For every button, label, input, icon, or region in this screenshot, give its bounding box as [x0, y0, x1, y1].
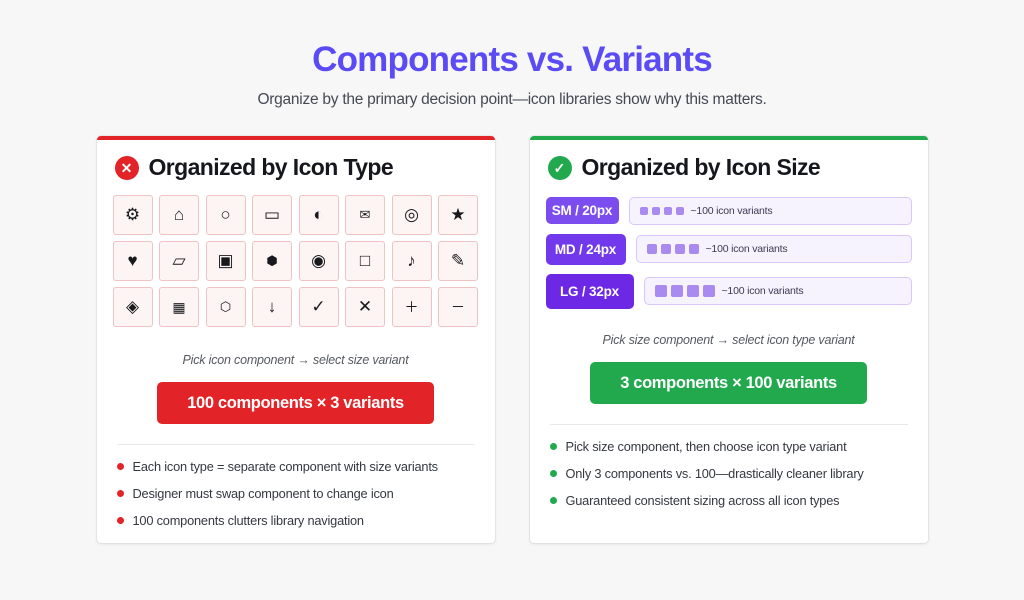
- variants-box-md[interactable]: ~100 icon variants: [636, 235, 912, 263]
- check-circle-icon: ✓: [548, 156, 572, 180]
- rectangle-glyph: ▭: [264, 206, 280, 223]
- square-outline-icon[interactable]: □: [345, 241, 385, 281]
- grid-icon[interactable]: ▦: [159, 287, 199, 327]
- circle-glyph: ○: [220, 206, 230, 223]
- square-in-square-glyph: ▣: [217, 252, 233, 269]
- card-organized-by-icon-size: ✓ Organized by Icon Size SM / 20px ~100 …: [530, 136, 928, 543]
- list-item: Each icon type = separate component with…: [117, 459, 479, 475]
- plus-glyph: ＋: [405, 300, 419, 314]
- list-item-label: Each icon type = separate component with…: [133, 459, 438, 475]
- diamond-in-diamond-icon[interactable]: ◈: [113, 287, 153, 327]
- card-header: ✓ Organized by Icon Size: [546, 140, 912, 194]
- star-glyph: ★: [450, 206, 465, 223]
- page-title: Components vs. Variants: [0, 40, 1024, 80]
- bullet-dot-icon: [550, 470, 557, 477]
- bullet-dot-icon: [550, 443, 557, 450]
- square-glyph: □: [360, 252, 370, 269]
- arrow-down-icon[interactable]: ↓: [252, 287, 292, 327]
- benefits-list: Pick size component, then choose icon ty…: [546, 425, 912, 509]
- size-pill-lg[interactable]: LG / 32px: [546, 274, 634, 309]
- list-item: Designer must swap component to change i…: [117, 486, 479, 502]
- size-row-sm: SM / 20px ~100 icon variants: [546, 197, 912, 225]
- list-item: 100 components clutters library navigati…: [117, 513, 479, 529]
- variants-box-sm[interactable]: ~100 icon variants: [629, 197, 912, 225]
- arrow-down-glyph: ↓: [268, 298, 277, 315]
- result-row: 100 components × 3 variants: [113, 382, 479, 425]
- gear-icon[interactable]: ⚙: [113, 195, 153, 235]
- size-row-md: MD / 24px ~100 icon variants: [546, 234, 912, 265]
- size-pill-md[interactable]: MD / 24px: [546, 234, 626, 265]
- page-root: Components vs. Variants Organize by the …: [0, 0, 1024, 600]
- target-glyph: ◎: [404, 206, 419, 223]
- list-item-label: 100 components clutters library navigati…: [133, 513, 364, 529]
- close-glyph: ✕: [358, 298, 372, 315]
- result-row: 3 components × 100 variants: [546, 362, 912, 405]
- circle-outline-icon[interactable]: ○: [206, 195, 246, 235]
- hexagon-filled-glyph: ⬢: [266, 254, 277, 267]
- workflow-caption: Pick size component → select icon type v…: [546, 333, 912, 347]
- minus-icon[interactable]: －: [438, 287, 478, 327]
- heart-glyph: ♥: [127, 252, 137, 269]
- grid-glyph: ▦: [172, 300, 185, 314]
- check-icon[interactable]: ✓: [299, 287, 339, 327]
- variant-swatches-icon: [647, 244, 699, 254]
- size-pill-sm[interactable]: SM / 20px: [546, 197, 619, 224]
- list-item-label: Pick size component, then choose icon ty…: [566, 439, 847, 455]
- plus-icon[interactable]: ＋: [392, 287, 432, 327]
- variants-box-lg[interactable]: ~100 icon variants: [644, 277, 912, 305]
- list-item-label: Only 3 components vs. 100—drastically cl…: [566, 466, 864, 482]
- parallelogram-icon[interactable]: ▱: [159, 241, 199, 281]
- list-item: Guaranteed consistent sizing across all …: [550, 493, 912, 509]
- contrast-glyph: ◐: [313, 206, 323, 223]
- size-component-list: SM / 20px ~100 icon variants MD / 24px: [546, 195, 912, 309]
- variants-label: ~100 icon variants: [706, 243, 788, 255]
- hexagon-filled-icon[interactable]: ⬢: [252, 241, 292, 281]
- list-item-label: Guaranteed consistent sizing across all …: [566, 493, 840, 509]
- list-item-label: Designer must swap component to change i…: [133, 486, 394, 502]
- cross-circle-icon: ✕: [115, 156, 139, 180]
- home-icon[interactable]: ⌂: [159, 195, 199, 235]
- page-header: Components vs. Variants Organize by the …: [0, 0, 1024, 109]
- music-glyph: ♪: [407, 252, 416, 269]
- gear-glyph: ⚙: [125, 206, 140, 223]
- rectangle-outline-icon[interactable]: ▭: [252, 195, 292, 235]
- bullet-dot-icon: [550, 497, 557, 504]
- bullet-dot-icon: [117, 517, 124, 524]
- result-badge: 100 components × 3 variants: [157, 382, 434, 425]
- card-header: ✕ Organized by Icon Type: [113, 140, 479, 194]
- list-item: Pick size component, then choose icon ty…: [550, 439, 912, 455]
- heart-filled-icon[interactable]: ♥: [113, 241, 153, 281]
- hexagon-outline-icon[interactable]: ⬡: [206, 287, 246, 327]
- parallelogram-glyph: ▱: [172, 252, 185, 269]
- envelope-icon[interactable]: ✉: [345, 195, 385, 235]
- pencil-glyph: ✎: [451, 252, 465, 269]
- list-item: Only 3 components vs. 100—drastically cl…: [550, 466, 912, 482]
- variant-swatches-icon: [655, 285, 715, 297]
- variant-swatches-icon: [640, 207, 684, 215]
- record-circle-icon[interactable]: ◉: [299, 241, 339, 281]
- minus-glyph: －: [451, 300, 465, 314]
- close-x-icon[interactable]: ✕: [345, 287, 385, 327]
- card-organized-by-icon-type: ✕ Organized by Icon Type ⚙ ⌂ ○ ▭ ◐ ✉ ◎ ★…: [97, 136, 495, 543]
- variants-label: ~100 icon variants: [722, 285, 804, 297]
- star-filled-icon[interactable]: ★: [438, 195, 478, 235]
- envelope-glyph: ✉: [360, 208, 371, 221]
- target-rings-icon[interactable]: ◎: [392, 195, 432, 235]
- music-note-icon[interactable]: ♪: [392, 241, 432, 281]
- bullet-dot-icon: [117, 463, 124, 470]
- card-title: Organized by Icon Type: [149, 155, 394, 180]
- hexagon-outline-glyph: ⬡: [220, 300, 231, 313]
- drawbacks-list: Each icon type = separate component with…: [113, 445, 479, 529]
- contrast-half-circle-icon[interactable]: ◐: [299, 195, 339, 235]
- pencil-icon[interactable]: ✎: [438, 241, 478, 281]
- page-subtitle: Organize by the primary decision point—i…: [0, 91, 1024, 109]
- icon-type-grid: ⚙ ⌂ ○ ▭ ◐ ✉ ◎ ★ ♥ ▱ ▣ ⬢ ◉ □ ♪ ✎ ◈: [113, 195, 479, 331]
- variants-label: ~100 icon variants: [691, 205, 773, 217]
- check-glyph: ✓: [311, 298, 325, 315]
- bullet-dot-icon: [117, 490, 124, 497]
- home-glyph: ⌂: [174, 206, 184, 223]
- card-title: Organized by Icon Size: [582, 155, 821, 180]
- comparison-cards: ✕ Organized by Icon Type ⚙ ⌂ ○ ▭ ◐ ✉ ◎ ★…: [0, 136, 1024, 543]
- size-row-lg: LG / 32px ~100 icon variants: [546, 274, 912, 309]
- result-badge: 3 components × 100 variants: [590, 362, 867, 405]
- diamond-glyph: ◈: [126, 298, 139, 315]
- workflow-caption: Pick icon component → select size varian…: [113, 353, 479, 367]
- square-in-square-icon[interactable]: ▣: [206, 241, 246, 281]
- record-glyph: ◉: [311, 252, 326, 269]
